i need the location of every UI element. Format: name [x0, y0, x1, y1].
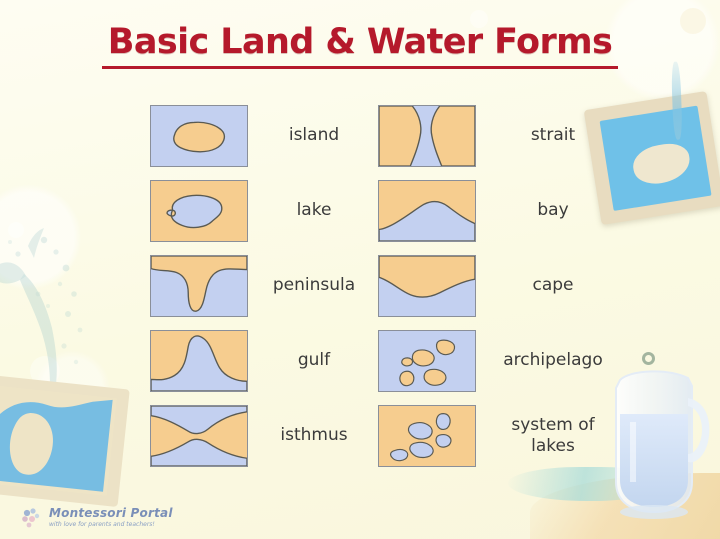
gulf-illustration: [151, 331, 247, 391]
strait-illustration: [379, 106, 475, 166]
lake-tray-illustration: [0, 386, 117, 496]
card-label: peninsula: [248, 275, 366, 295]
card-bay[interactable]: [378, 180, 476, 242]
system-of-lakes-illustration: [379, 406, 475, 466]
isthmus-illustration: [151, 406, 247, 466]
peninsula-illustration: [151, 256, 247, 316]
lake-illustration: [151, 181, 247, 241]
card-strait[interactable]: [378, 105, 476, 167]
list-item[interactable]: lake: [150, 173, 366, 248]
list-item[interactable]: peninsula: [150, 248, 366, 323]
card-label: system of lakes: [476, 415, 616, 455]
card-label: cape: [476, 275, 616, 295]
list-item[interactable]: isthmus: [150, 398, 366, 473]
card-label: lake: [248, 200, 366, 220]
list-item[interactable]: archipelago: [378, 323, 616, 398]
cape-illustration: [379, 256, 475, 316]
right-card-column: strait bay cape: [378, 98, 616, 473]
list-item[interactable]: gulf: [150, 323, 366, 398]
card-peninsula[interactable]: [150, 255, 248, 317]
island-illustration: [151, 106, 247, 166]
card-label: bay: [476, 200, 616, 220]
bay-illustration: [379, 181, 475, 241]
left-card-column: island lake peninsula: [150, 98, 366, 473]
water-splash-icon: [0, 206, 104, 386]
island-tray-land: [630, 140, 693, 187]
brand-tagline: with love for parents and teachers!: [49, 521, 173, 528]
brand-name: Montessori Portal: [49, 507, 173, 519]
card-label: strait: [476, 125, 616, 145]
slide-canvas: Basic Land & Water Forms island lake: [0, 0, 720, 539]
list-item[interactable]: strait: [378, 98, 616, 173]
flower-icon: [20, 506, 44, 530]
card-label: isthmus: [248, 425, 366, 445]
card-label: archipelago: [476, 350, 616, 370]
card-archipelago[interactable]: [378, 330, 476, 392]
list-item[interactable]: system of lakes: [378, 398, 616, 473]
card-island[interactable]: [150, 105, 248, 167]
brand-logo[interactable]: Montessori Portal with love for parents …: [20, 506, 173, 530]
lake-tray: [0, 375, 130, 507]
card-cape[interactable]: [378, 255, 476, 317]
page-title: Basic Land & Water Forms: [102, 22, 618, 69]
card-system-of-lakes[interactable]: [378, 405, 476, 467]
card-isthmus[interactable]: [150, 405, 248, 467]
card-label: island: [248, 125, 366, 145]
card-label: gulf: [248, 350, 366, 370]
card-gulf[interactable]: [150, 330, 248, 392]
list-item[interactable]: island: [150, 98, 366, 173]
list-item[interactable]: bay: [378, 173, 616, 248]
list-item[interactable]: cape: [378, 248, 616, 323]
title-block: Basic Land & Water Forms: [0, 22, 720, 69]
archipelago-illustration: [379, 331, 475, 391]
card-lake[interactable]: [150, 180, 248, 242]
